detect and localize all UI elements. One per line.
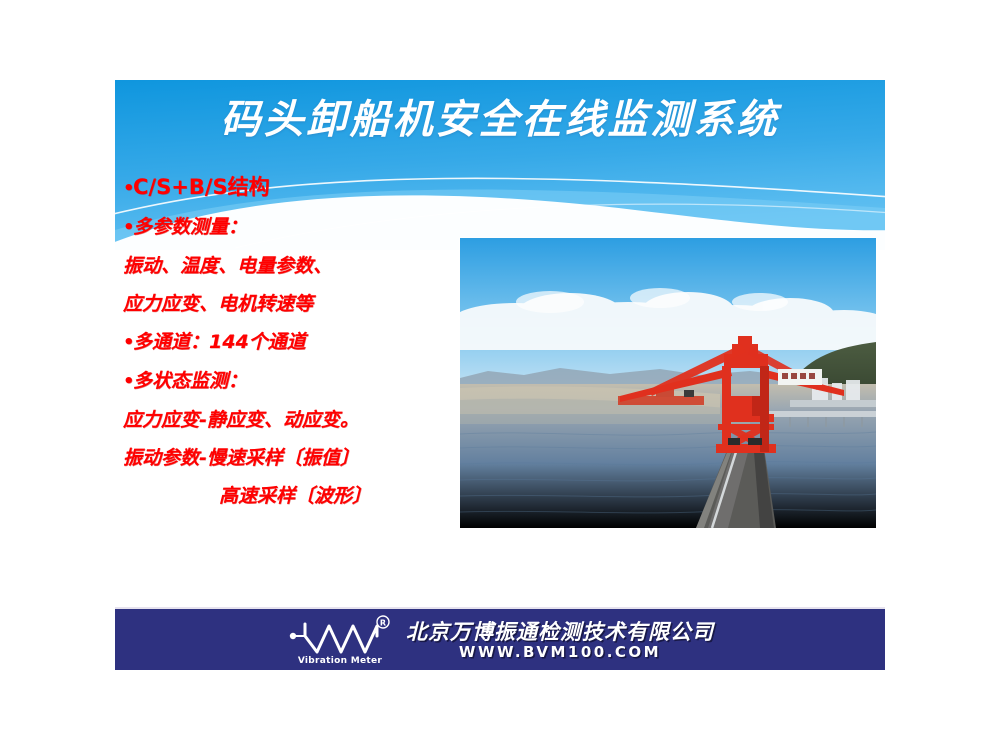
body-line-1-text: C/S+B/S结构 (133, 175, 270, 199)
body-line-8: 振动参数-慢速采样〔振值〕 (123, 439, 483, 477)
bullet-dot-icon: • (123, 324, 133, 362)
slide-title: 码头卸船机安全在线监测系统 (115, 99, 885, 141)
company-name-cn: 北京万博振通检测技术有限公司 (406, 621, 714, 643)
body-line-6-text: 多状态监测： (133, 370, 247, 392)
bullet-dot-icon: • (123, 170, 133, 208)
body-line-7: 应力应变-静应变、动应变。 (123, 401, 483, 439)
company-identity: 北京万博振通检测技术有限公司 WWW.BVM100.COM (406, 621, 714, 661)
bullet-dot-icon: • (123, 209, 133, 247)
body-line-7-text: 应力应变-静应变、动应变。 (123, 409, 359, 431)
body-line-8-text: 振动参数-慢速采样〔振值〕 (123, 447, 359, 469)
body-line-1: •C/S+B/S结构 (123, 168, 483, 208)
svg-text:R: R (380, 618, 386, 627)
body-line-6: •多状态监测： (123, 362, 483, 401)
body-line-2: •多参数测量： (123, 208, 483, 247)
body-line-9-text: 高速采样〔波形〕 (219, 485, 371, 507)
body-line-3: 振动、温度、电量参数、 (123, 247, 483, 285)
body-line-4: 应力应变、电机转速等 (123, 285, 483, 323)
body-line-3-text: 振动、温度、电量参数、 (123, 255, 332, 277)
svg-text:Vibration Meter: Vibration Meter (298, 656, 383, 666)
company-website-url[interactable]: WWW.BVM100.COM (459, 644, 661, 661)
slide-canvas: 码头卸船机安全在线监测系统 •C/S+B/S结构 •多参数测量： 振动、温度、电… (0, 0, 1000, 750)
vibration-meter-logo: R Vibration Meter (286, 614, 394, 666)
footer-bar: R Vibration Meter 北京万博振通检测技术有限公司 WWW.BVM… (115, 607, 885, 670)
body-line-2-text: 多参数测量： (133, 216, 247, 238)
ship-unloader-photo-graphic (460, 238, 876, 528)
footer-content: R Vibration Meter 北京万博振通检测技术有限公司 WWW.BVM… (115, 609, 885, 670)
vibration-waveform-icon: R Vibration Meter (286, 614, 394, 666)
body-line-4-text: 应力应变、电机转速等 (123, 293, 313, 315)
ship-unloader-photo (460, 238, 876, 528)
bullet-dot-icon: • (123, 363, 133, 401)
body-text-block: •C/S+B/S结构 •多参数测量： 振动、温度、电量参数、 应力应变、电机转速… (123, 168, 483, 515)
body-line-9: 高速采样〔波形〕 (123, 477, 483, 515)
body-line-5-text: 多通道：144个通道 (133, 331, 306, 353)
body-line-5: •多通道：144个通道 (123, 323, 483, 362)
